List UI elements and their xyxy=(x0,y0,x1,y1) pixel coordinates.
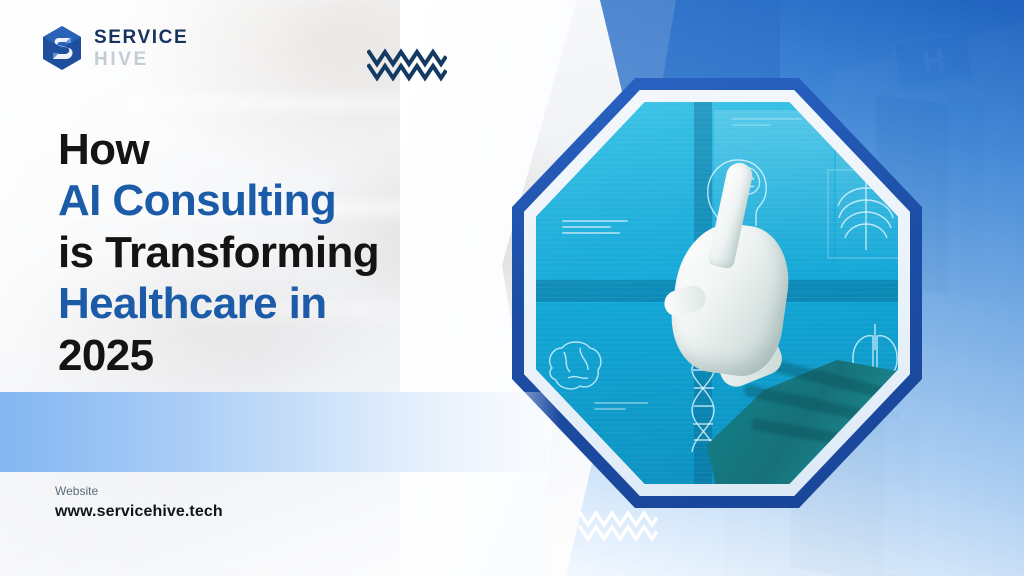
headline-line-3: is Transforming xyxy=(58,227,488,278)
hud-data-bars xyxy=(562,220,628,238)
poster-canvas: H xyxy=(0,0,1024,576)
headline-line-1: How xyxy=(58,124,488,175)
brand-logo[interactable]: SERVICE HIVE xyxy=(41,25,188,71)
headline-line-4: Healthcare in xyxy=(58,278,488,329)
footer-website-block: Website www.servicehive.tech xyxy=(55,484,223,521)
headline-line-5: 2025 xyxy=(58,330,488,381)
footer-label: Website xyxy=(55,484,223,498)
headline-line-2: AI Consulting xyxy=(58,175,488,226)
hud-data-bars xyxy=(732,118,802,130)
hud-data-bars xyxy=(594,402,648,414)
brand-name-line1: SERVICE xyxy=(94,28,188,47)
zigzag-wave-icon xyxy=(367,44,447,89)
footer-url[interactable]: www.servicehive.tech xyxy=(55,503,223,521)
brand-wordmark: SERVICE HIVE xyxy=(94,27,188,69)
bottom-gradient-band xyxy=(0,392,560,472)
hero-octagon-frame xyxy=(512,78,922,508)
zigzag-wave-icon xyxy=(578,505,658,550)
hexagon-s-logo-icon xyxy=(41,25,83,71)
brand-name-line2: HIVE xyxy=(94,50,188,69)
page-title: How AI Consulting is Transforming Health… xyxy=(58,124,488,381)
